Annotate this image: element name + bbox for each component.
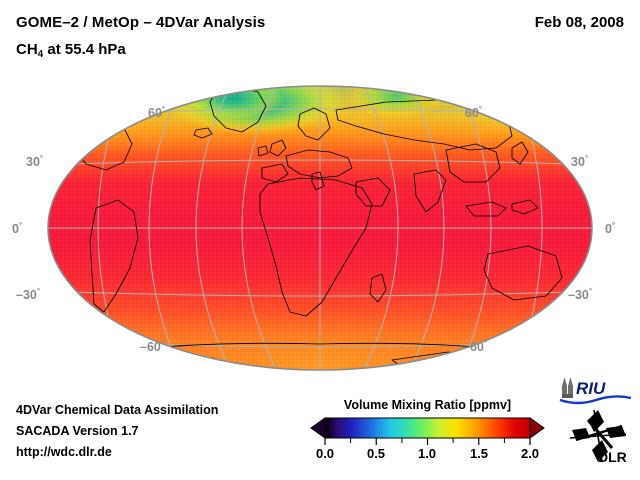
lat-label-left-minus60: –60° (140, 339, 164, 354)
colorbar-tick-1: 0.5 (367, 446, 385, 461)
page-title: GOME–2 / MetOp – 4DVar Analysis (16, 14, 265, 31)
colorbar-title: Volume Mixing Ratio [ppmv] (305, 398, 550, 412)
colorbar-left-arrow (311, 418, 325, 438)
footer-line-assimilation: 4DVar Chemical Data Assimilation (16, 400, 218, 421)
footer-line-version: SACADA Version 1.7 (16, 421, 218, 442)
lat-label-left-30: 30° (26, 154, 43, 169)
colorbar-gradient (325, 418, 530, 438)
footer-line-url[interactable]: http://wdc.dlr.de (16, 442, 218, 463)
lat-label-left-minus30: –30° (16, 287, 40, 302)
lat-label-left-60: 60° (148, 105, 165, 120)
lat-label-left-0: 0° (12, 221, 22, 236)
lat-label-right-60: 60° (465, 105, 482, 120)
lat-label-right-30: 30° (571, 154, 588, 169)
mollweide-map (0, 78, 640, 388)
colorbar-scale (305, 416, 550, 446)
footer-credits: 4DVar Chemical Data Assimilation SACADA … (16, 400, 218, 463)
page-subtitle: CH4 at 55.4 hPa (16, 41, 126, 60)
cathedral-spires-icon (562, 377, 573, 398)
colorbar-tick-0: 0.0 (316, 446, 334, 461)
colorbar-right-arrow (530, 418, 544, 438)
colorbar: Volume Mixing Ratio [ppmv] (305, 398, 550, 470)
map-panel: 60° 30° 0° –30° –60° 60° 30° 0° –30° –60… (0, 78, 640, 388)
species-label: CH (16, 41, 38, 58)
lat-label-right-minus60: –60° (463, 339, 487, 354)
colorbar-tick-2: 1.0 (418, 446, 436, 461)
colorbar-major-ticks (325, 438, 530, 445)
lat-label-right-minus30: –30° (568, 287, 592, 302)
dlr-logo-text: DLR (598, 449, 627, 464)
riu-logo-text: RIU (576, 379, 606, 398)
dlr-logo[interactable]: DLR (568, 408, 632, 464)
colorbar-tick-3: 1.5 (470, 446, 488, 461)
pressure-level-label: at 55.4 hPa (43, 41, 126, 58)
analysis-date: Feb 08, 2008 (535, 14, 624, 31)
riu-logo[interactable]: RIU (556, 374, 634, 406)
colorbar-tick-4: 2.0 (521, 446, 539, 461)
lat-label-right-0: 0° (605, 221, 615, 236)
